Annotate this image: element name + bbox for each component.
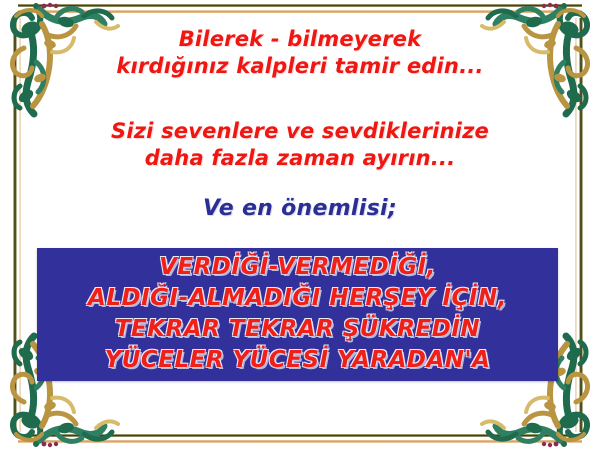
frame-rule-top-dark: [18, 4, 582, 7]
frame-rule-right-tan: [575, 18, 577, 432]
verse-1-line-2: kırdığınız kalpleri tamir edin...: [40, 53, 560, 80]
frame-rule-right: [579, 18, 583, 432]
panel-line-3: TEKRAR TEKRAR ŞÜKREDİN: [37, 316, 558, 342]
highlight-panel: VERDİĞİ-VERMEDİĞİ, ALDIĞI-ALMADIĞI HERŞE…: [37, 248, 558, 381]
frame-rule-left: [13, 18, 17, 432]
kicker-text: Ve en önemlisi;: [40, 196, 560, 221]
frame-rule-left-tan: [19, 18, 21, 432]
frame-rule-bottom-tan: [18, 440, 582, 443]
panel-line-2: ALDIĞI-ALMADIĞI HERŞEY İÇİN,: [37, 285, 558, 311]
verse-2-line-2: daha fazla zaman ayırın...: [40, 145, 560, 172]
panel-line-1: VERDİĞİ-VERMEDİĞİ,: [37, 254, 558, 280]
greeting-card: Bilerek - bilmeyerek kırdığınız kalpleri…: [0, 0, 600, 450]
verse-2-line-1: Sizi sevenlere ve sevdiklerinize: [40, 118, 560, 145]
frame-rule-top-tan: [18, 10, 582, 13]
panel-line-4: YÜCELER YÜCESİ YARADAN'A: [37, 347, 558, 373]
verse-block-2: Sizi sevenlere ve sevdiklerinize daha fa…: [40, 118, 560, 173]
verse-block-1: Bilerek - bilmeyerek kırdığınız kalpleri…: [40, 26, 560, 81]
verse-1-line-1: Bilerek - bilmeyerek: [40, 26, 560, 53]
frame-rule-bottom-dark: [18, 434, 582, 437]
